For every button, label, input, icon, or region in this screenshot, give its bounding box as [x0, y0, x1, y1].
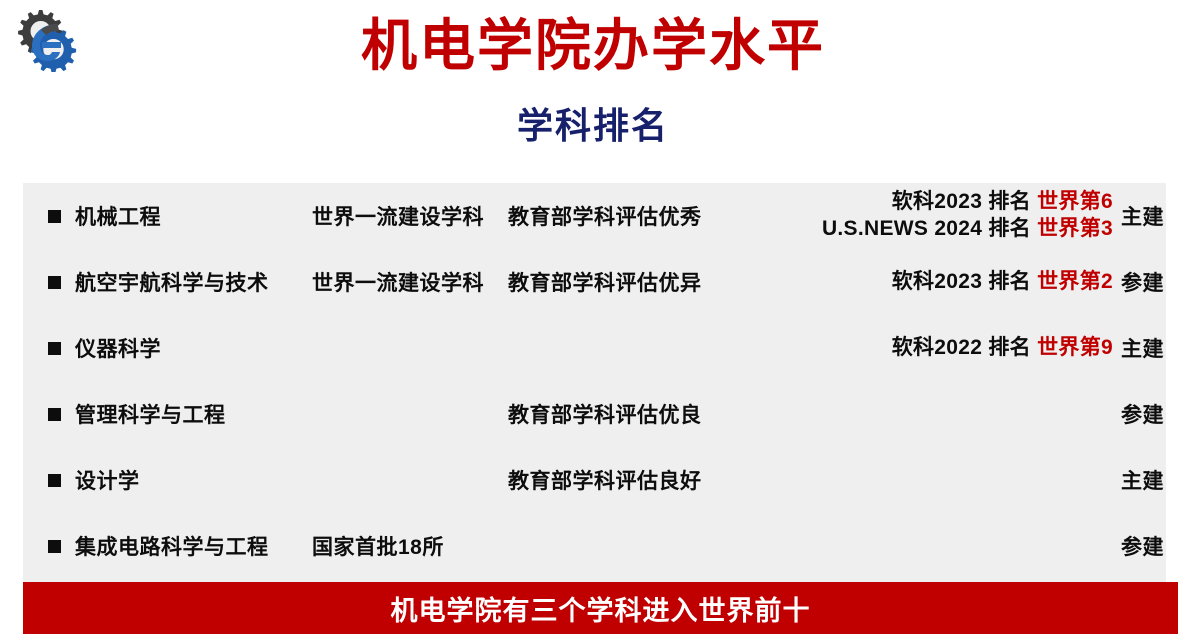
- discipline-cell: 航空宇航科学与技术: [48, 249, 269, 315]
- discipline-evaluation: 教育部学科评估优良: [508, 381, 702, 447]
- discipline-cell: 仪器科学: [48, 315, 161, 381]
- construction-role: 参建: [1121, 513, 1181, 579]
- construction-role: 主建: [1121, 315, 1181, 381]
- ranking-source: 软科2023 排名: [892, 190, 1031, 213]
- construction-role: 参建: [1121, 249, 1181, 315]
- page-subtitle: 学科排名: [0, 104, 1186, 147]
- discipline-ranking-panel: 机械工程世界一流建设学科教育部学科评估优秀软科2023 排名 世界第6U.S.N…: [23, 183, 1166, 582]
- discipline-cell: 集成电路科学与工程: [48, 513, 269, 579]
- ranking-line: U.S.NEWS 2024 排名 世界第3: [822, 216, 1113, 243]
- table-row: 集成电路科学与工程国家首批18所参建: [23, 513, 1166, 579]
- discipline-ranking: 软科2023 排名 世界第2: [763, 249, 1113, 315]
- ranking-position: 世界第9: [1037, 336, 1113, 359]
- discipline-tier: 世界一流建设学科: [312, 249, 484, 315]
- ranking-line: 软科2023 排名 世界第2: [892, 269, 1113, 296]
- discipline-name: 机械工程: [75, 201, 161, 231]
- discipline-tier: 国家首批18所: [312, 513, 444, 579]
- page-title: 机电学院办学水平: [0, 14, 1186, 78]
- discipline-name: 集成电路科学与工程: [75, 531, 269, 561]
- bullet-square-icon: [48, 408, 61, 421]
- bullet-square-icon: [48, 276, 61, 289]
- ranking-line: 软科2023 排名 世界第6: [892, 189, 1113, 216]
- ranking-source: U.S.NEWS 2024 排名: [822, 217, 1031, 240]
- discipline-tier: 世界一流建设学科: [312, 183, 484, 249]
- ranking-source: 软科2023 排名: [892, 270, 1031, 293]
- summary-banner-text: 机电学院有三个学科进入世界前十: [391, 589, 811, 628]
- ranking-line: 软科2022 排名 世界第9: [892, 335, 1113, 362]
- discipline-evaluation: 教育部学科评估优秀: [508, 183, 702, 249]
- bullet-square-icon: [48, 342, 61, 355]
- construction-role: 主建: [1121, 183, 1181, 249]
- ranking-source: 软科2022 排名: [892, 336, 1031, 359]
- table-row: 航空宇航科学与技术世界一流建设学科教育部学科评估优异软科2023 排名 世界第2…: [23, 249, 1166, 315]
- ranking-position: 世界第3: [1037, 217, 1113, 240]
- table-row: 仪器科学软科2022 排名 世界第9主建: [23, 315, 1166, 381]
- discipline-name: 管理科学与工程: [75, 399, 226, 429]
- table-row: 机械工程世界一流建设学科教育部学科评估优秀软科2023 排名 世界第6U.S.N…: [23, 183, 1166, 249]
- construction-role: 主建: [1121, 447, 1181, 513]
- bullet-square-icon: [48, 210, 61, 223]
- discipline-cell: 管理科学与工程: [48, 381, 226, 447]
- ranking-position: 世界第2: [1037, 270, 1113, 293]
- bullet-square-icon: [48, 474, 61, 487]
- discipline-name: 仪器科学: [75, 333, 161, 363]
- bullet-square-icon: [48, 540, 61, 553]
- discipline-evaluation: 教育部学科评估良好: [508, 447, 702, 513]
- discipline-name: 设计学: [75, 465, 140, 495]
- discipline-name: 航空宇航科学与技术: [75, 267, 269, 297]
- discipline-ranking: 软科2023 排名 世界第6U.S.NEWS 2024 排名 世界第3: [763, 183, 1113, 249]
- table-row: 设计学教育部学科评估良好主建: [23, 447, 1166, 513]
- discipline-evaluation: 教育部学科评估优异: [508, 249, 702, 315]
- discipline-cell: 机械工程: [48, 183, 161, 249]
- construction-role: 参建: [1121, 381, 1181, 447]
- table-row: 管理科学与工程教育部学科评估优良参建: [23, 381, 1166, 447]
- ranking-position: 世界第6: [1037, 190, 1113, 213]
- summary-banner: 机电学院有三个学科进入世界前十: [23, 582, 1178, 634]
- discipline-ranking: 软科2022 排名 世界第9: [763, 315, 1113, 381]
- discipline-cell: 设计学: [48, 447, 140, 513]
